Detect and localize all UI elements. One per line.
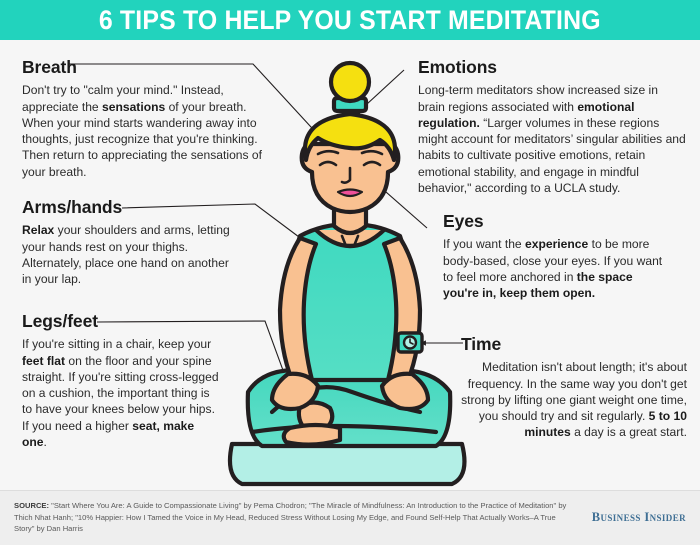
right-hand (382, 374, 428, 409)
tip-breath-body: Don't try to "calm your mind." Instead, … (22, 82, 272, 180)
lips (338, 190, 362, 197)
left-eyebrow (318, 151, 338, 154)
upper-foot (299, 402, 332, 430)
wrist-watch (398, 333, 422, 352)
tip-arms-hands-title: Arms/hands (22, 198, 237, 217)
right-eye-closed (364, 162, 380, 165)
left-hand (272, 374, 318, 409)
tip-arms-hands: Arms/hands Relax your shoulders and arms… (22, 198, 237, 287)
face-details (318, 151, 382, 182)
tip-eyes-body: If you want the experience to be more bo… (443, 236, 668, 301)
head (302, 144, 399, 212)
tip-arms-hands-body: Relax your shoulders and arms, letting y… (22, 222, 237, 287)
meditation-cushion (230, 444, 465, 484)
leg-crease-upper (272, 387, 420, 412)
footer-source-label: SOURCE: (14, 501, 49, 510)
tip-eyes: Eyes If you want the experience to be mo… (443, 212, 668, 301)
collarbone (342, 236, 358, 246)
tip-breath: Breath Don't try to "calm your mind." In… (22, 58, 272, 180)
tip-breath-title: Breath (22, 58, 272, 77)
infographic-root: 6 TIPS TO HELP YOU START MEDITATING (0, 0, 700, 545)
tip-eyes-title: Eyes (443, 212, 668, 231)
tip-legs-feet-title: Legs/feet (22, 312, 222, 331)
tip-emotions: Emotions Long-term meditators show incre… (418, 58, 686, 196)
lower-foot (284, 425, 340, 445)
footer-source-text: "Start Where You Are: A Guide to Compass… (14, 501, 566, 533)
leg-crease-lower (252, 426, 436, 432)
tip-time-body: Meditation isn't about length; it's abou… (455, 359, 687, 440)
crossed-legs-pants (248, 370, 450, 446)
tip-time: Time Meditation isn't about length; it's… (455, 335, 687, 441)
connector-emotions (355, 70, 404, 115)
hair-tie (334, 98, 366, 111)
page-title: 6 TIPS TO HELP YOU START MEDITATING (99, 5, 601, 36)
tip-emotions-body: Long-term meditators show increased size… (418, 82, 686, 196)
tank-top (288, 224, 413, 380)
left-arm (280, 238, 316, 384)
footer-source: SOURCE: "Start Where You Are: A Guide to… (14, 500, 574, 535)
tip-legs-feet-body: If you're sitting in a chair, keep your … (22, 336, 222, 450)
right-eyebrow (362, 151, 382, 154)
tip-legs-feet: Legs/feet If you're sitting in a chair, … (22, 312, 222, 450)
nose (342, 168, 350, 183)
neckline (316, 230, 384, 246)
hair-bun (331, 63, 369, 101)
hair (305, 114, 395, 160)
tip-emotions-title: Emotions (418, 58, 686, 77)
footer: SOURCE: "Start Where You Are: A Guide to… (0, 490, 700, 545)
header-bar: 6 TIPS TO HELP YOU START MEDITATING (0, 0, 700, 40)
neck (334, 198, 366, 233)
right-arm (384, 238, 420, 384)
business-insider-logo: Business Insider (592, 510, 686, 525)
left-eye-closed (320, 162, 336, 165)
tip-time-title: Time (461, 335, 687, 354)
